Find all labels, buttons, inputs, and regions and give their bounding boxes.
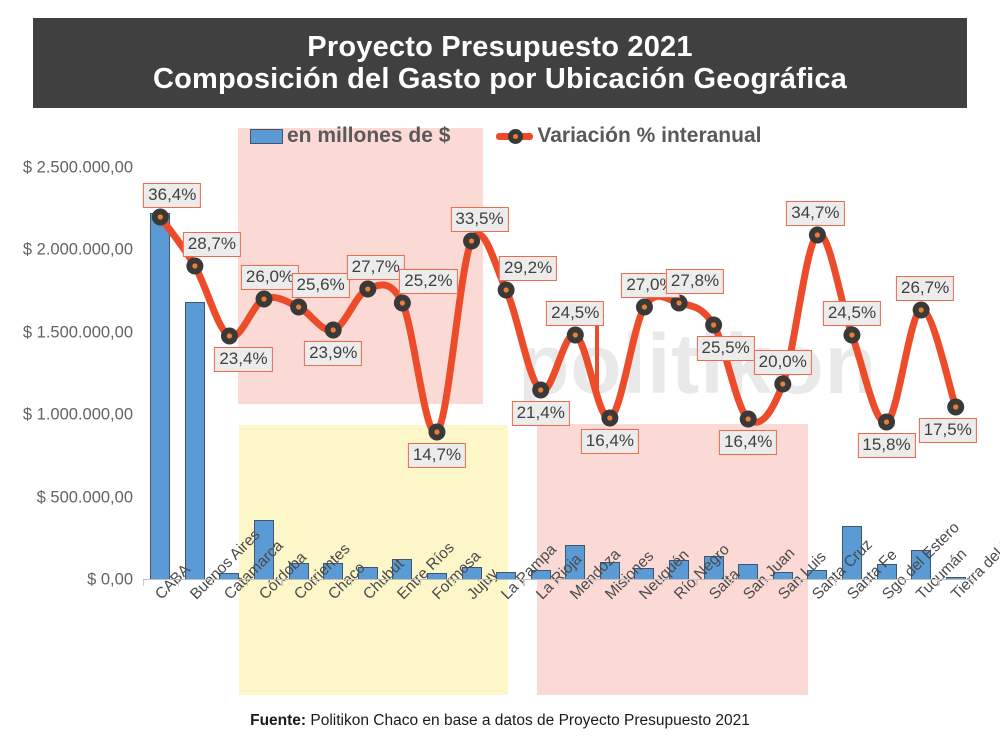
data-label-san-juan: 16,4%	[719, 430, 777, 455]
source-label: Fuente:	[250, 712, 306, 729]
x-axis-tick	[351, 580, 352, 586]
data-label-sgo-del-estero: 15,8%	[857, 433, 915, 458]
x-axis-tick	[489, 580, 490, 586]
x-axis-tick	[420, 580, 421, 586]
legend-item-line[interactable]: Variación % interanual	[496, 124, 761, 148]
source-text: Politikon Chaco en base a datos de Proye…	[306, 712, 750, 729]
x-axis-tick	[662, 580, 663, 586]
title-line-1: Proyecto Presupuesto 2021	[307, 31, 692, 63]
y-axis-tick-label: $ 1.500.000,00	[23, 323, 133, 342]
data-label-santa-fe: 24,5%	[823, 301, 881, 326]
x-axis-tick	[869, 580, 870, 586]
x-axis-tick	[800, 580, 801, 586]
y-axis-tick-label: $ 500.000,00	[37, 488, 133, 507]
line-marker-swatch-icon	[496, 129, 533, 144]
data-label-jujuy: 33,5%	[450, 207, 508, 232]
title-line-2: Composición del Gasto por Ubicación Geog…	[153, 63, 847, 95]
chart-container: Proyecto Presupuesto 2021 Composición de…	[0, 0, 1000, 750]
plot-area: politikon $ 0,00$ 500.000,00$ 1.000.000,…	[143, 168, 973, 580]
x-axis-tick	[523, 580, 524, 586]
legend-label-line: Variación % interanual	[537, 124, 761, 148]
x-axis-tick	[938, 580, 939, 586]
x-axis-tick	[593, 580, 594, 586]
data-label-r-o-negro: 27,8%	[666, 269, 724, 294]
bar-swatch-icon	[250, 129, 283, 144]
data-label-san-luis: 20,0%	[754, 350, 812, 375]
data-label-tierra-del-fuego: 17,5%	[919, 418, 977, 443]
x-axis-tick	[835, 580, 836, 586]
x-axis-tick	[143, 580, 144, 586]
x-axis-tick	[627, 580, 628, 586]
data-label-misiones: 16,4%	[581, 429, 639, 454]
y-axis-tick-label: $ 2.500.000,00	[23, 159, 133, 178]
data-label-salta: 25,5%	[697, 336, 755, 361]
legend-label-bars: en millones de $	[287, 124, 450, 148]
x-axis-tick	[904, 580, 905, 586]
x-axis-tick	[316, 580, 317, 586]
data-label-mendoza: 24,5%	[546, 301, 604, 326]
data-label-corrientes: 25,6%	[292, 273, 350, 298]
y-axis-tick-label: $ 1.000.000,00	[23, 406, 133, 425]
data-label-santa-cruz: 34,7%	[786, 201, 844, 226]
source-footnote: Fuente: Politikon Chaco en base a datos …	[0, 712, 1000, 730]
data-label-c-rdoba: 26,0%	[241, 265, 299, 290]
x-axis-tick	[247, 580, 248, 586]
x-axis-tick	[212, 580, 213, 586]
data-label-buenos-aires: 28,7%	[183, 232, 241, 257]
x-axis-tick	[281, 580, 282, 586]
x-axis-category-labels: CABABuenos AiresCatamarcaCórdobaCorrient…	[143, 585, 1000, 695]
x-axis-tick	[454, 580, 455, 586]
data-label-entre-r-os: 25,2%	[399, 269, 457, 294]
data-label-chubut: 27,7%	[347, 255, 405, 280]
legend-item-bars[interactable]: en millones de $	[250, 124, 450, 148]
y-axis-labels: $ 0,00$ 500.000,00$ 1.000.000,00$ 1.500.…	[19, 168, 139, 580]
data-label-la-rioja: 21,4%	[512, 401, 570, 426]
x-axis-tick	[178, 580, 179, 586]
x-axis-tick	[558, 580, 559, 586]
data-label-la-pampa: 29,2%	[499, 256, 557, 281]
x-axis-tick	[696, 580, 697, 586]
data-label-tucum-n: 26,7%	[896, 276, 954, 301]
x-axis-tick	[973, 580, 974, 586]
annotation-arrow	[143, 168, 973, 580]
data-label-caba: 36,4%	[143, 183, 201, 208]
x-axis-tick	[385, 580, 386, 586]
data-label-chaco: 23,9%	[304, 341, 362, 366]
x-axis-tick	[766, 580, 767, 586]
data-label-catamarca: 23,4%	[214, 347, 272, 372]
y-axis-tick-label: $ 2.000.000,00	[23, 241, 133, 260]
chart-legend: en millones de $ Variación % interanual	[250, 124, 761, 148]
x-axis-tick	[731, 580, 732, 586]
chart-title-banner: Proyecto Presupuesto 2021 Composición de…	[33, 18, 967, 108]
data-label-formosa: 14,7%	[408, 443, 466, 468]
y-axis-tick-label: $ 0,00	[87, 571, 133, 590]
